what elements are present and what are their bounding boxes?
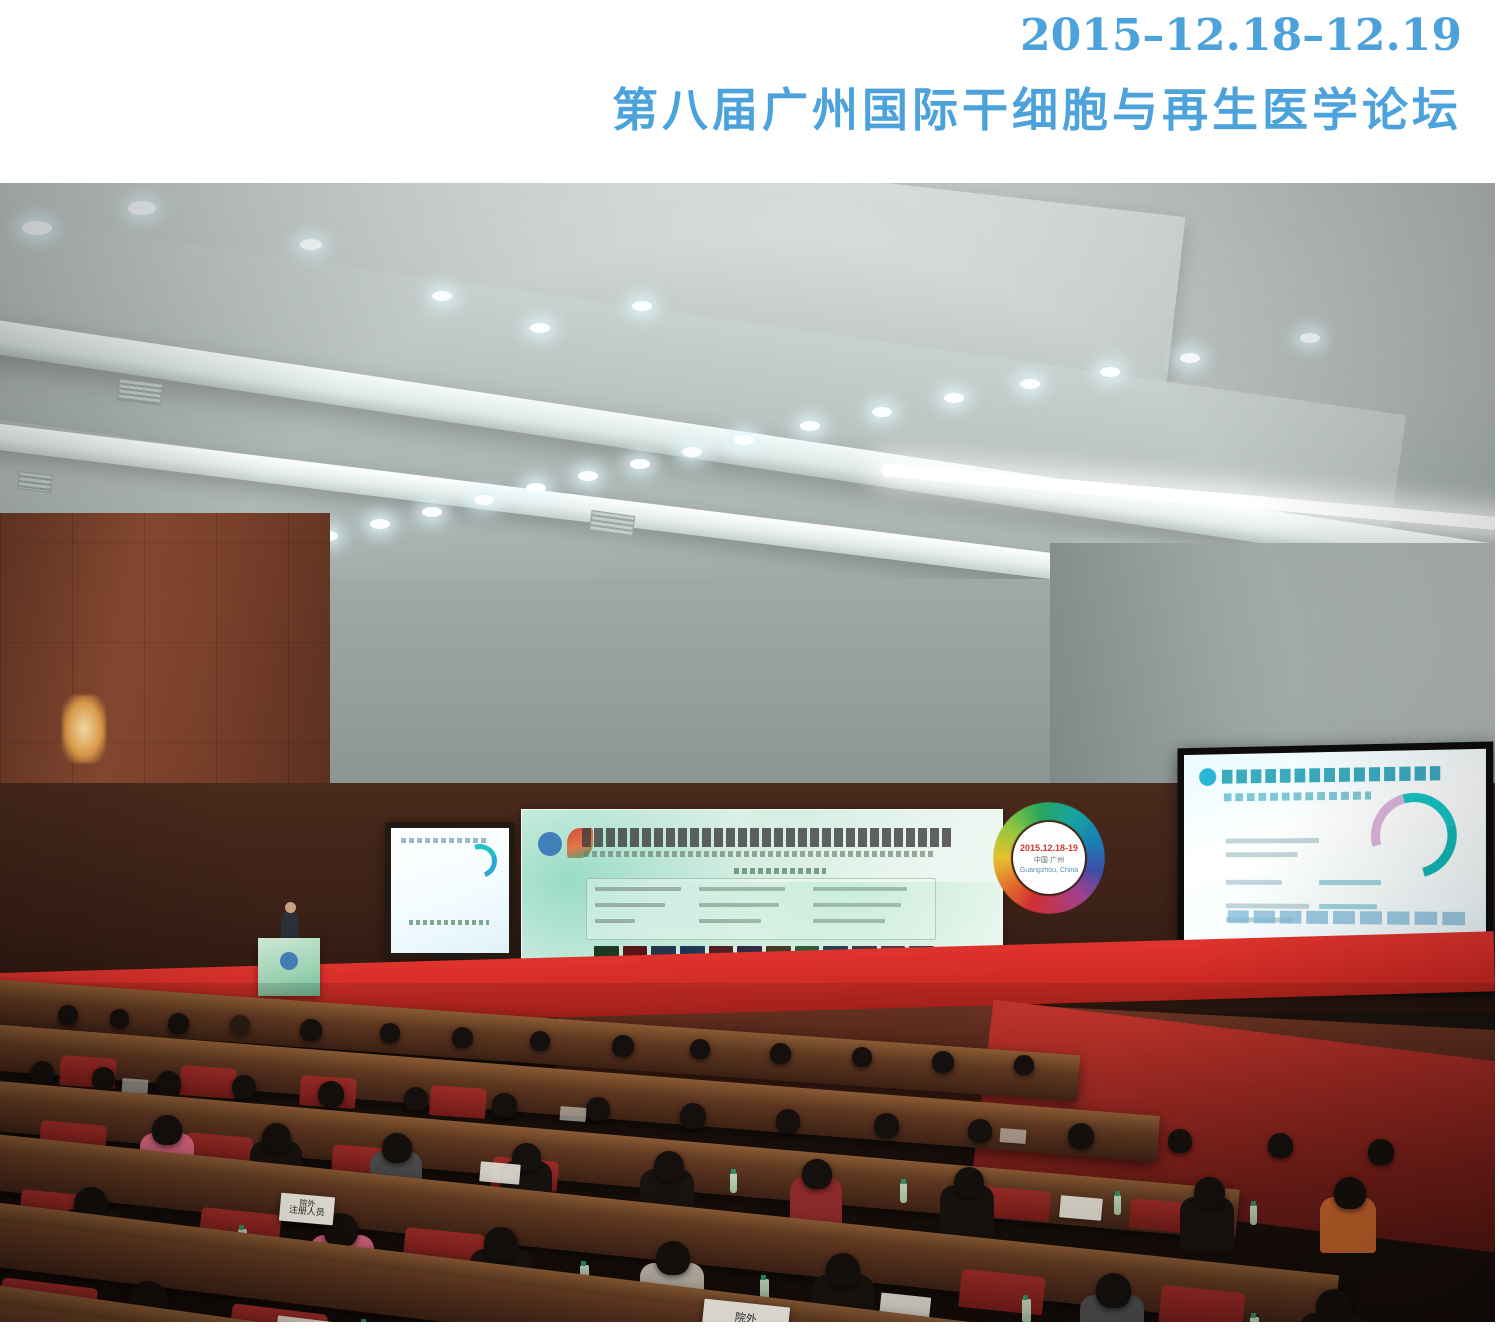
air-vent-icon [17,471,53,493]
banner-institution-logo-icon [538,832,562,856]
podium-logo-icon [280,952,298,970]
air-vent-icon [589,510,636,538]
page-header: 2015–12.18–12.19 第八届广州国际干细胞与再生医学论坛 [0,0,1500,183]
slide-title-placeholder [401,838,487,843]
header-date-range: 2015–12.18–12.19 [1020,10,1462,61]
emblem-city-en: Guangzhou, China [1020,867,1078,874]
banner-keywords-label [734,868,826,874]
slide-subtitle-placeholder [1224,791,1371,801]
slide-swirl-logo-icon [1356,778,1473,894]
slide-swirl-logo-icon [457,838,502,883]
slide-body-placeholder [409,920,489,925]
emblem-date: 2015.12.18-19 [1020,843,1078,853]
slide-logo-icon [1199,768,1216,786]
banner-subtitle-text [584,851,936,857]
conference-emblem: 2015.12.18-19 中国·广州 Guangzhou, China [979,788,1119,968]
emblem-center: 2015.12.18-19 中国·广州 Guangzhou, China [1013,822,1085,894]
table-sign-line1: 院外 [734,1312,757,1322]
emblem-city-cn: 中国·广州 [1034,855,1064,865]
left-projection-screen [385,822,515,959]
conference-hall-photo: 2015.12.18-19 中国·广州 Guangzhou, China [0,183,1495,1322]
table-sign-line2: 注册人员 [288,1207,325,1220]
slide-thumbnail-strip [1228,910,1465,925]
slide-title-placeholder [1222,766,1440,784]
banner-topics-box [586,878,936,940]
audience-seating-area: 院外 注册人员 院外 注册人员 院外 注册人员 [0,983,1495,1322]
wall-light-fixture [62,695,106,763]
event-photo-page: 2015–12.18–12.19 第八届广州国际干细胞与再生医学论坛 [0,0,1500,1328]
banner-title-text [582,828,952,847]
table-sign: 院外 注册人员 [279,1193,335,1226]
page-title: 第八届广州国际干细胞与再生医学论坛 [612,74,1462,140]
